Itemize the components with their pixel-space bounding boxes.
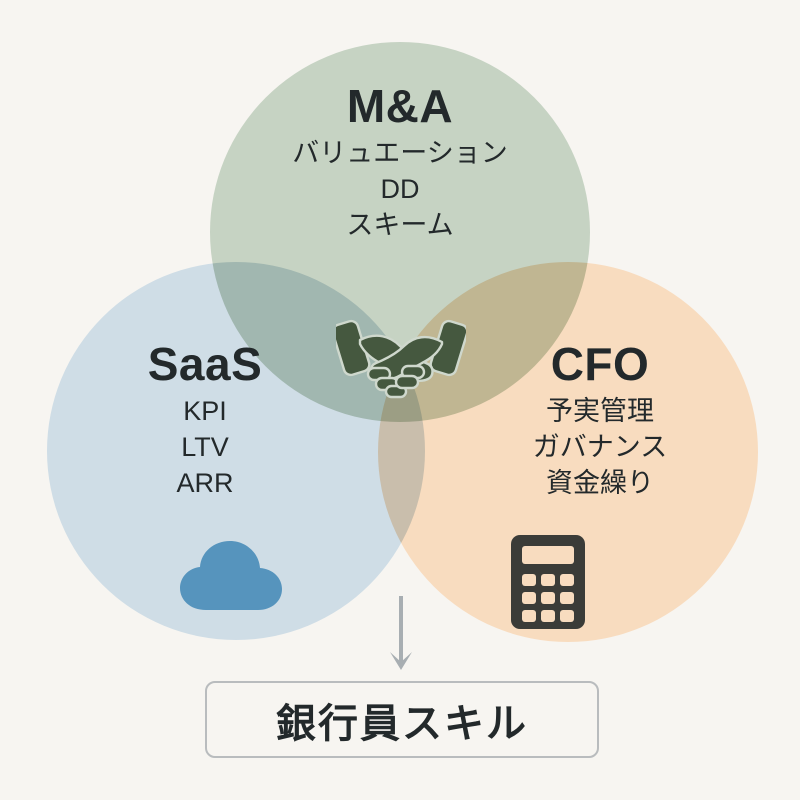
set-item-saas-2: ARR	[60, 466, 350, 502]
set-item-saas-0: KPI	[60, 394, 350, 430]
set-items-saas: KPI LTV ARR	[60, 394, 350, 501]
set-items-ma: バリュエーション DD スキーム	[200, 136, 600, 243]
set-item-cfo-0: 予実管理	[455, 394, 745, 430]
down-arrow-icon	[388, 596, 414, 678]
set-item-cfo-2: 資金繰り	[455, 466, 745, 502]
set-item-ma-0: バリュエーション	[200, 136, 600, 172]
result-label: 銀行員スキル	[276, 691, 528, 749]
set-title-ma: M&A	[200, 82, 600, 130]
label-group-saas: SaaS KPI LTV ARR	[60, 340, 350, 501]
set-item-ma-1: DD	[200, 172, 600, 208]
venn-diagram-canvas: M&A バリュエーション DD スキーム SaaS KPI LTV ARR CF…	[0, 0, 800, 800]
label-group-ma: M&A バリュエーション DD スキーム	[200, 82, 600, 243]
handshake-icon	[336, 306, 466, 406]
set-item-cfo-1: ガバナンス	[455, 430, 745, 466]
label-group-cfo: CFO 予実管理 ガバナンス 資金繰り	[455, 340, 745, 501]
set-items-cfo: 予実管理 ガバナンス 資金繰り	[455, 394, 745, 501]
set-item-ma-2: スキーム	[200, 208, 600, 244]
calculator-icon	[508, 532, 588, 632]
cloud-icon	[178, 534, 286, 614]
result-box[interactable]: 銀行員スキル	[205, 681, 599, 758]
set-title-saas: SaaS	[60, 340, 350, 388]
set-title-cfo: CFO	[455, 340, 745, 388]
set-item-saas-1: LTV	[60, 430, 350, 466]
